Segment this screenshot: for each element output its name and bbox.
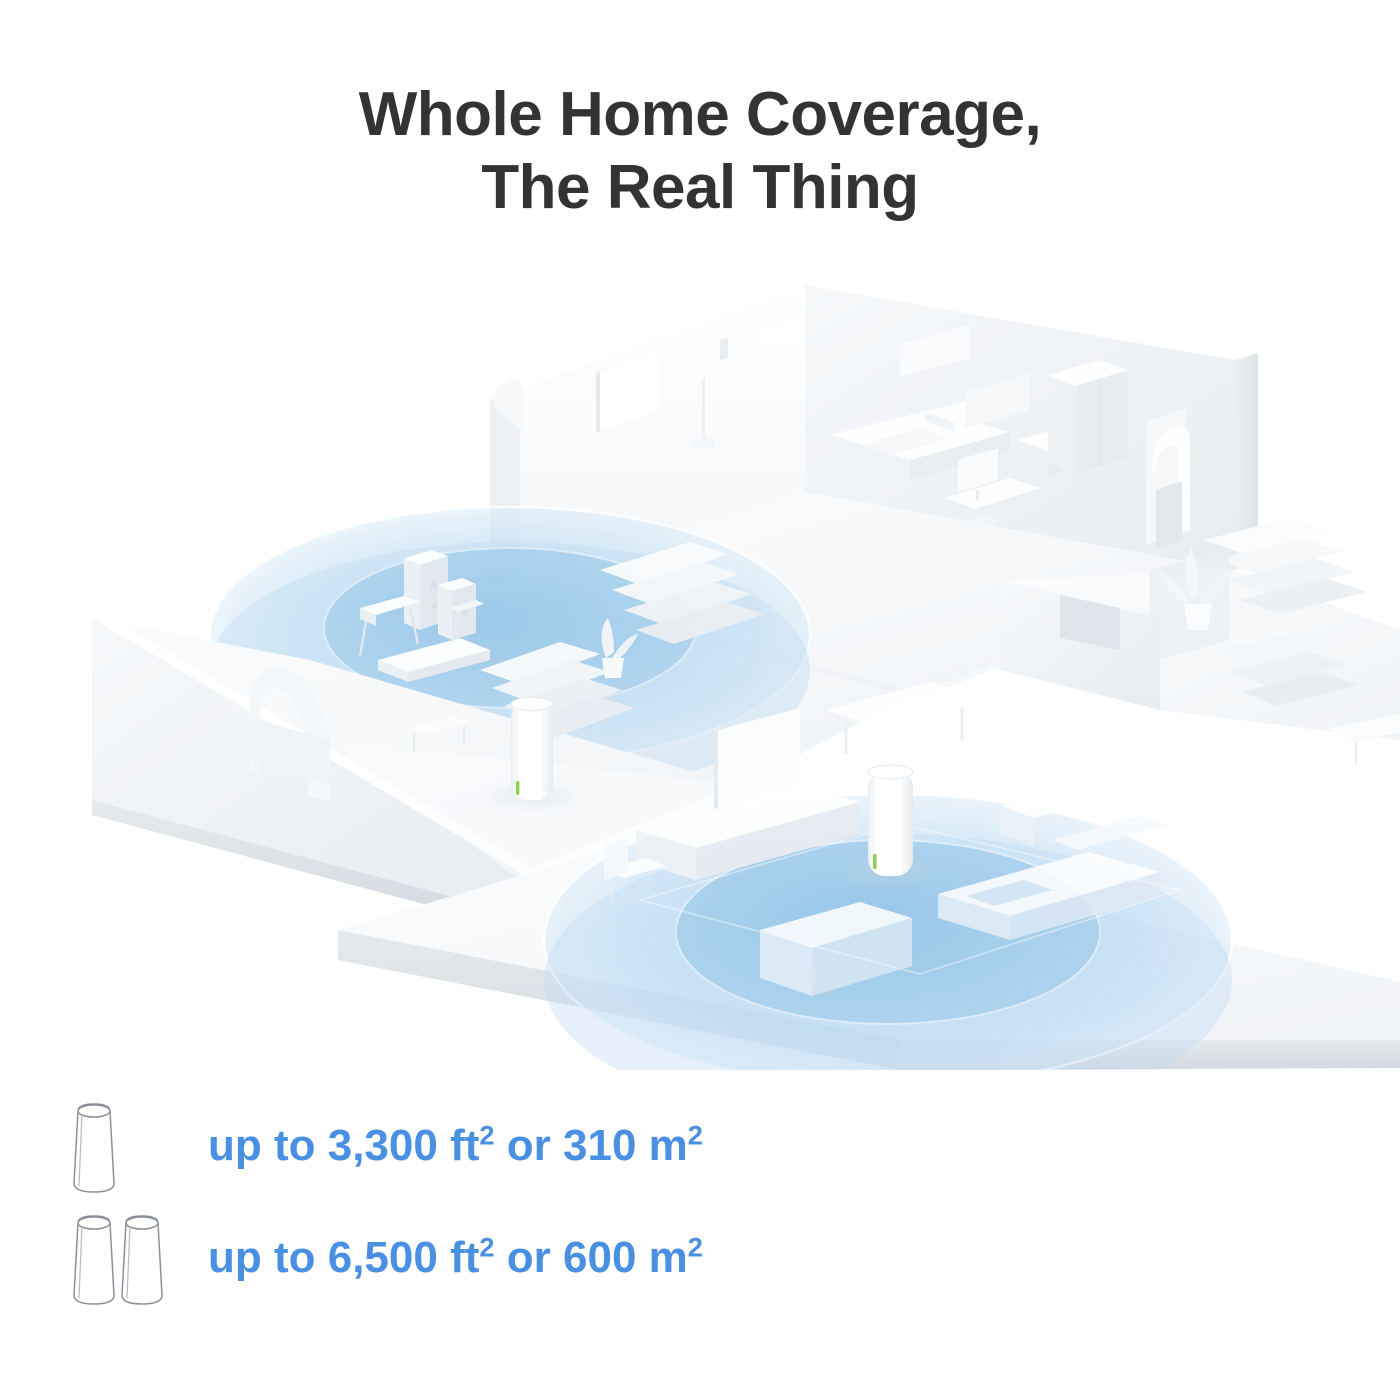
legend-label-double: up to 6,500 ft2 or 600 m2: [208, 1233, 703, 1283]
legend-sup-2a: 2: [479, 1231, 494, 1262]
legend-text-middle-1: or 310 m: [495, 1121, 688, 1170]
legend-text-prefix-1: up to 3,300 ft: [208, 1121, 479, 1170]
legend-sup-1b: 2: [688, 1119, 703, 1150]
coverage-legend: up to 3,300 ft2 or 310 m2: [0, 1090, 1400, 1314]
legend-text-prefix-2: up to 6,500 ft: [208, 1233, 479, 1282]
legend-label-single: up to 3,300 ft2 or 310 m2: [208, 1121, 703, 1171]
single-deco-unit-icon: [68, 1094, 198, 1198]
interior-archway: [1146, 408, 1190, 549]
legend-text-middle-2: or 600 m: [495, 1233, 688, 1282]
legend-sup-1a: 2: [479, 1119, 494, 1150]
legend-row-double-unit: up to 6,500 ft2 or 600 m2: [0, 1202, 1400, 1314]
double-deco-unit-icon: [68, 1206, 198, 1310]
page-title-line-2: The Real Thing: [0, 151, 1400, 224]
page-title: Whole Home Coverage, The Real Thing: [0, 78, 1400, 224]
legend-sup-2b: 2: [688, 1231, 703, 1262]
wardrobe: [1048, 360, 1128, 474]
page-title-line-1: Whole Home Coverage,: [359, 80, 1041, 149]
marketing-graphic-page: Whole Home Coverage, The Real Thing: [0, 0, 1400, 1400]
house-illustration: [0, 240, 1400, 1070]
legend-row-single-unit: up to 3,300 ft2 or 310 m2: [0, 1090, 1400, 1202]
deco-led: [516, 781, 519, 795]
deco-led: [873, 854, 877, 869]
